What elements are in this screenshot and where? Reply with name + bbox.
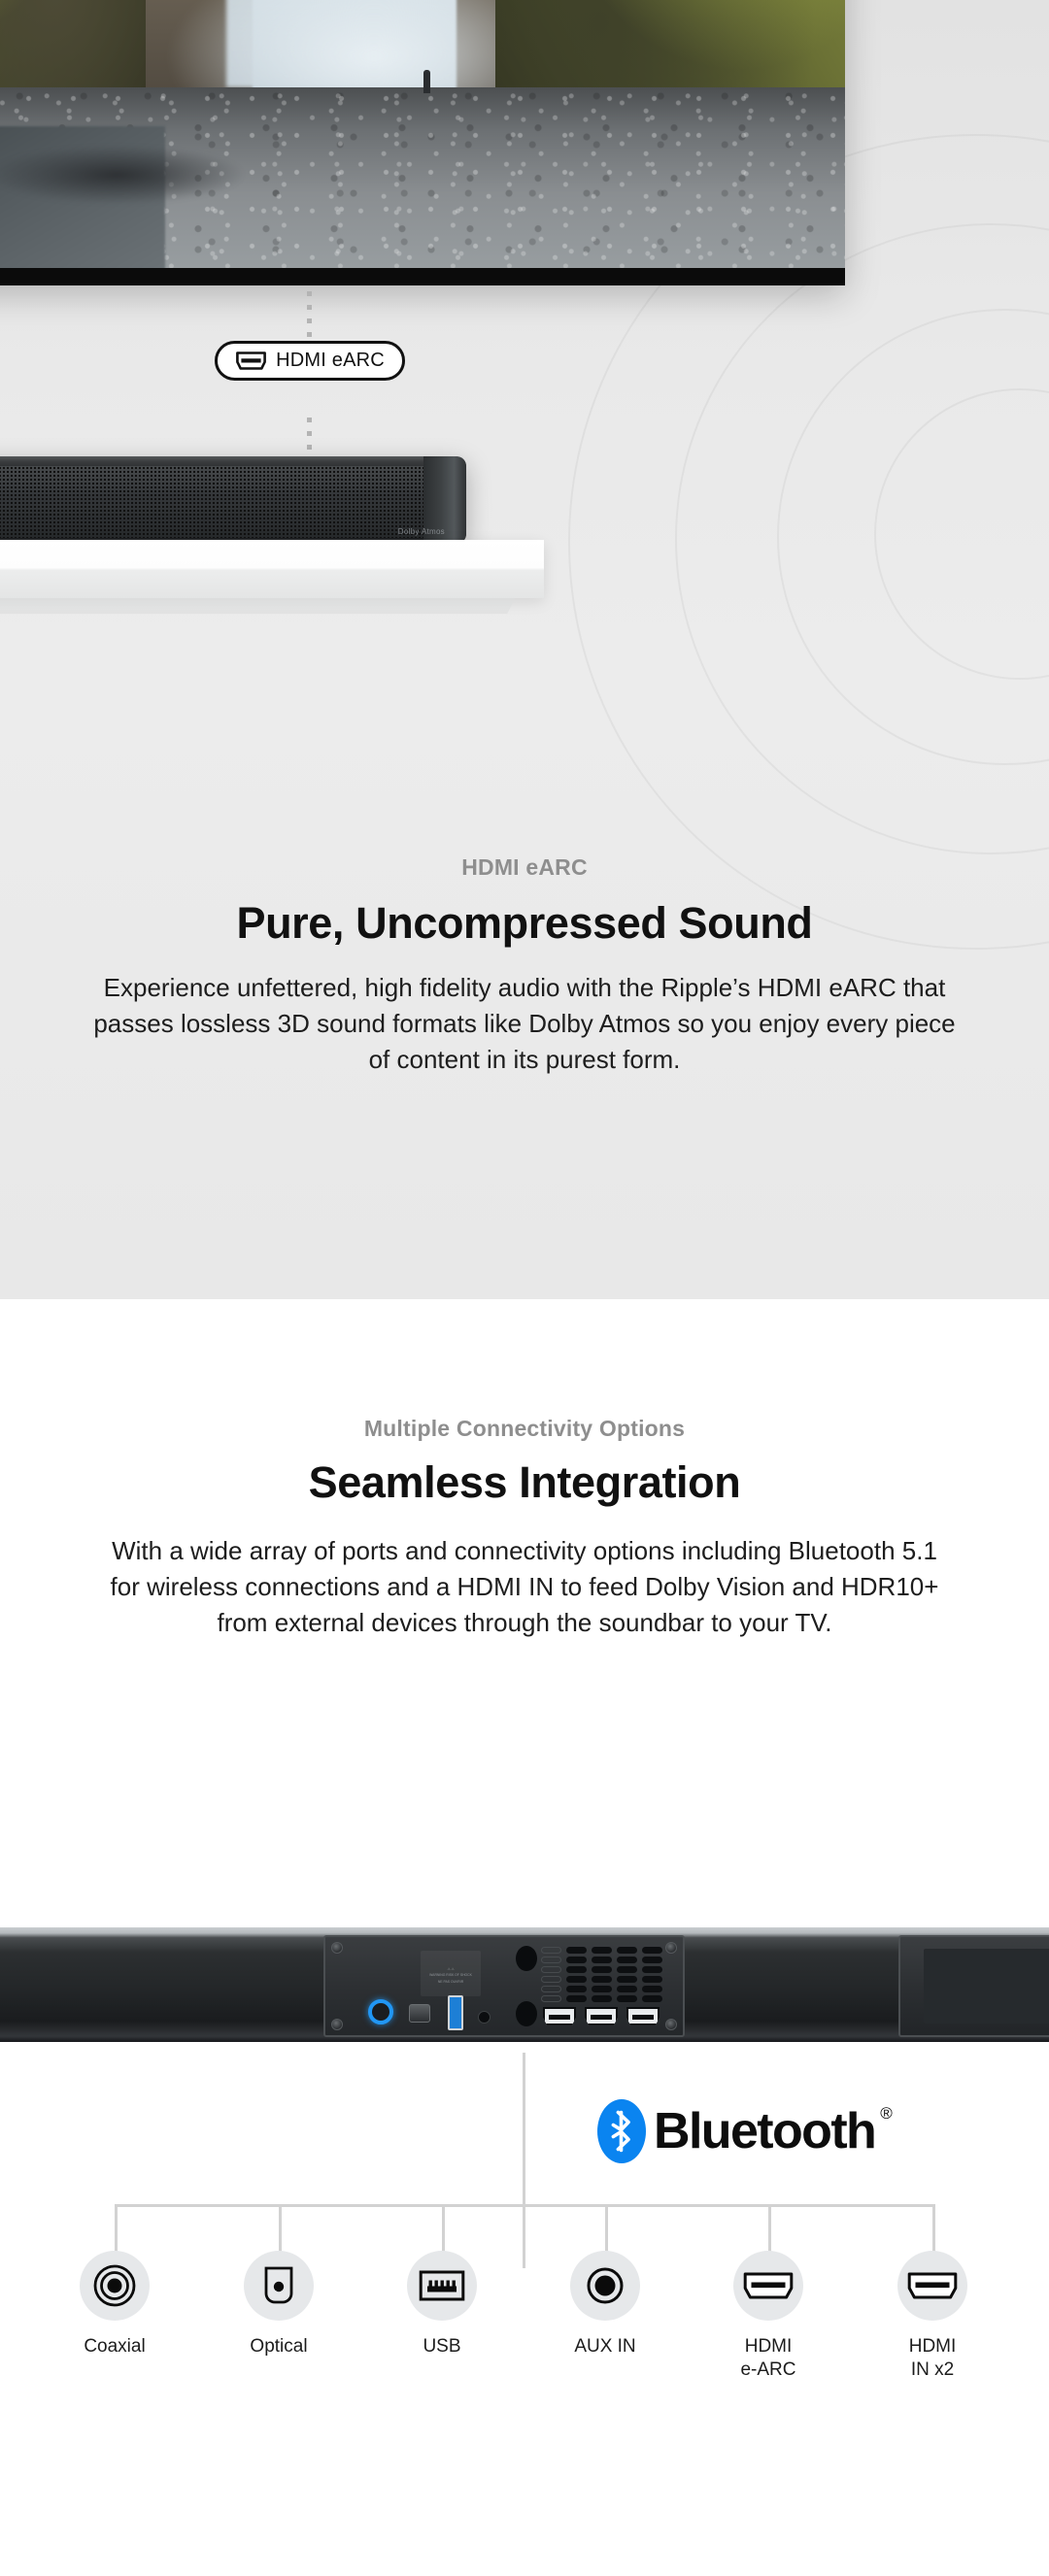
tree-branch [932, 2205, 935, 2256]
tree-branch [442, 2205, 445, 2256]
rear-side-plate [898, 1935, 1049, 2037]
shelf [0, 540, 544, 598]
port-item-hdmi-earc[interactable]: HDMI e-ARC [716, 2251, 821, 2381]
headline-connectivity: Seamless Integration [0, 1457, 1049, 1508]
soundbar-grille [0, 466, 427, 538]
port-label: AUX IN [553, 2335, 658, 2359]
registered-trademark: ® [880, 2104, 891, 2124]
bluetooth-logo: Bluetooth® [597, 2095, 889, 2167]
port-label: Coaxial [62, 2335, 167, 2359]
dark-sand-patch [0, 146, 243, 204]
text-block-connectivity: Multiple Connectivity Options Seamless I… [0, 1416, 1049, 1641]
text-block-earc: HDMI eARC Pure, Uncompressed Sound Exper… [0, 854, 1049, 1078]
coaxial-icon [80, 2251, 150, 2321]
hdmi-earc-badge: HDMI eARC [215, 341, 405, 381]
port-item-hdmi-in[interactable]: HDMI IN x2 [880, 2251, 985, 2381]
tv-screen [0, 0, 845, 268]
soundbar-brand-logo: Dolby Atmos [398, 527, 445, 536]
bluetooth-wordmark-text: Bluetooth [654, 2103, 875, 2159]
coaxial-jack [368, 1999, 393, 2024]
mounting-hole [516, 2001, 537, 2026]
port-label: HDMI e-ARC [716, 2335, 821, 2381]
rear-side-plate-inset [924, 1949, 1049, 2024]
port-label: USB [389, 2335, 494, 2359]
hdmi-jack [626, 2007, 660, 2025]
headline-earc: Pure, Uncompressed Sound [0, 898, 1049, 949]
hdmi-jack [543, 2007, 576, 2025]
usb-icon [407, 2251, 477, 2321]
screw-icon [331, 1942, 343, 1954]
hdmi-earc-badge-label: HDMI eARC [276, 350, 385, 372]
hdmi-port-icon [235, 351, 267, 370]
usb-jack [448, 1995, 463, 2030]
tv-bezel-bottom [0, 268, 845, 285]
soundbar-rear-photo: ⚠ ⚠WARNING RISK OF SHOCKNE PAS OUVRIR [0, 1922, 1049, 2053]
hdmi-jack [585, 2007, 618, 2025]
hdmi-earc-icon [733, 2251, 803, 2321]
tree-trunk-line [523, 2053, 525, 2268]
body-connectivity: With a wide array of ports and connectiv… [97, 1533, 952, 1641]
eyebrow-earc: HDMI eARC [0, 854, 1049, 881]
soundbar-body [0, 456, 466, 544]
bluetooth-wordmark: Bluetooth® [654, 2102, 875, 2160]
optical-jack [409, 2004, 430, 2023]
bluetooth-icon [597, 2099, 646, 2163]
hero-section: HDMI eARC Dolby Atmos HDMI eARC Pure, Un… [0, 0, 1049, 1299]
tree-branch [115, 2205, 118, 2256]
aux-jack [478, 2011, 491, 2024]
warning-label: ⚠ ⚠WARNING RISK OF SHOCKNE PAS OUVRIR [421, 1951, 481, 1996]
rear-io-plate: ⚠ ⚠WARNING RISK OF SHOCKNE PAS OUVRIR [323, 1935, 685, 2037]
port-item-optical[interactable]: Optical [226, 2251, 331, 2359]
hdmi-jack-bank [543, 1999, 663, 2032]
screw-icon [331, 2019, 343, 2030]
mounting-hole [516, 1946, 537, 1971]
tree-branch [279, 2205, 282, 2256]
hdmi-in-icon [897, 2251, 967, 2321]
port-label: Optical [226, 2335, 331, 2359]
tree-branch [605, 2205, 608, 2256]
person-silhouette [423, 70, 430, 93]
port-item-usb[interactable]: USB [389, 2251, 494, 2359]
port-item-aux-in[interactable]: AUX IN [553, 2251, 658, 2359]
screw-icon [665, 1942, 677, 1954]
television [0, 0, 845, 285]
tree-branch [768, 2205, 771, 2256]
optical-icon [244, 2251, 314, 2321]
vent-grid [541, 1947, 662, 2005]
screw-icon [665, 2019, 677, 2030]
port-item-coaxial[interactable]: Coaxial [62, 2251, 167, 2359]
waterfall-scene-image [0, 0, 845, 268]
eyebrow-connectivity: Multiple Connectivity Options [0, 1416, 1049, 1442]
port-label: HDMI IN x2 [880, 2335, 985, 2381]
tree-bus-line [115, 2204, 935, 2207]
aux-in-icon [570, 2251, 640, 2321]
body-earc: Experience unfettered, high fidelity aud… [87, 970, 962, 1078]
